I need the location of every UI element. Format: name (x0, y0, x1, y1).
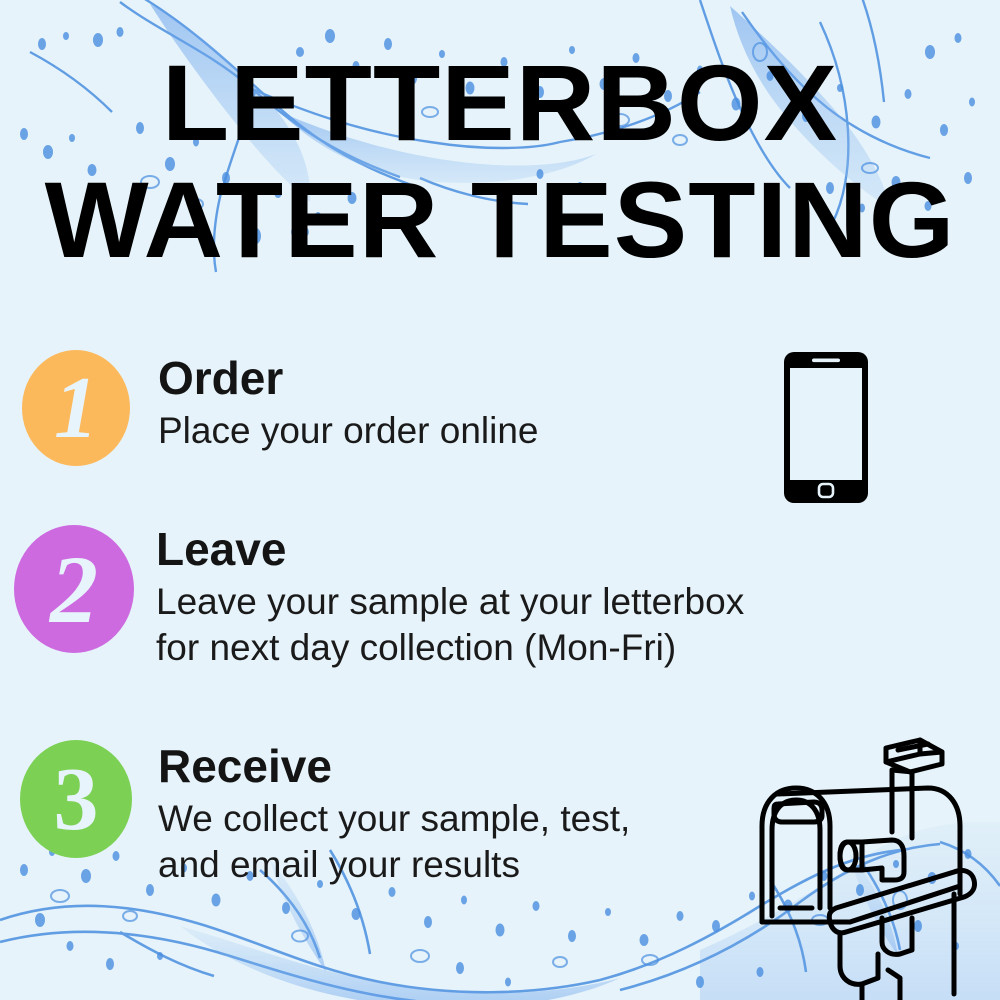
mailbox-icon (742, 722, 992, 1000)
title-line-2: WATER TESTING (0, 169, 1000, 272)
step-description-2: Leave your sample at your letterbox for … (156, 579, 744, 672)
step-text-1: Order Place your order online (158, 350, 539, 454)
step-item-order: 1 Order Place your order online (22, 350, 539, 466)
step-title-2: Leave (156, 525, 744, 575)
step-title-3: Receive (158, 742, 630, 792)
step-description-3: We collect your sample, test, and email … (158, 796, 630, 889)
step-badge-3: 3 (20, 740, 132, 858)
poster-title: LETTERBOX WATER TESTING (0, 52, 1000, 271)
step-description-1: Place your order online (158, 408, 539, 454)
step-text-2: Leave Leave your sample at your letterbo… (156, 525, 744, 671)
step-badge-2: 2 (14, 525, 134, 653)
step-text-3: Receive We collect your sample, test, an… (158, 740, 630, 888)
step-item-receive: 3 Receive We collect your sample, test, … (20, 740, 630, 888)
smartphone-icon (782, 350, 870, 510)
step-badge-1: 1 (22, 350, 130, 466)
step-item-leave: 2 Leave Leave your sample at your letter… (14, 525, 744, 671)
poster-canvas: LETTERBOX WATER TESTING 1 Order Place yo… (0, 0, 1000, 1000)
title-line-1: LETTERBOX (0, 52, 1000, 155)
step-title-1: Order (158, 354, 539, 404)
